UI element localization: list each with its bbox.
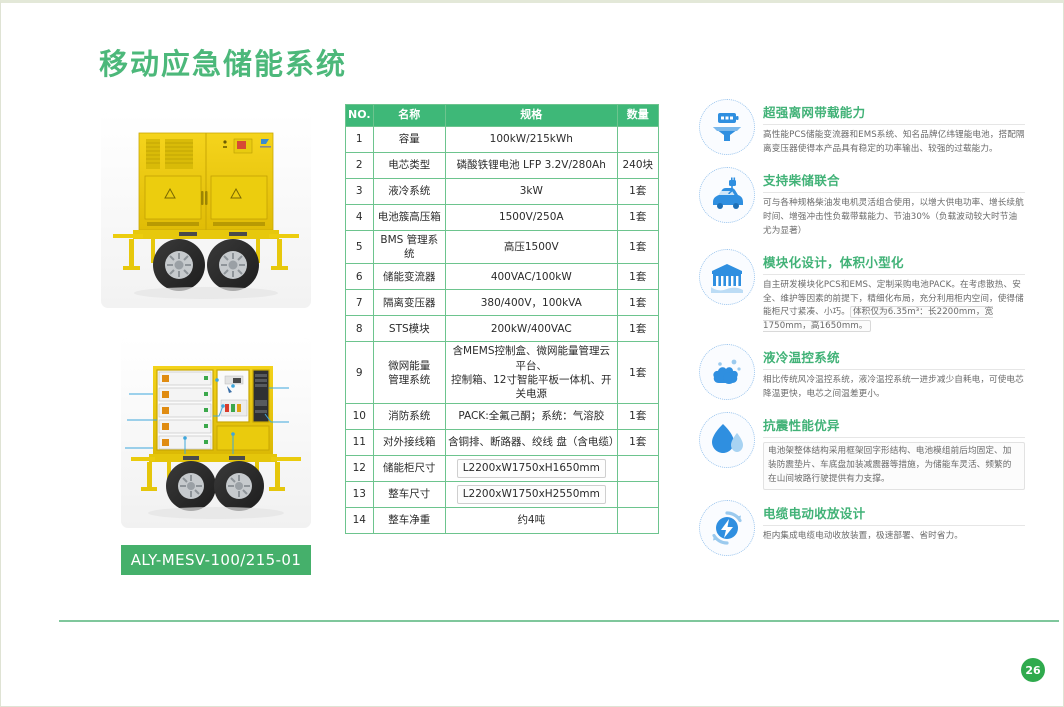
cell-no: 4 xyxy=(346,205,374,231)
cell-name: 对外接线箱 xyxy=(373,430,446,456)
product-photo-closed xyxy=(101,113,311,308)
feature-body: 模块化设计，体积小型化自主研发模块化PCS和EMS、定制采购电池PACK。在考虑… xyxy=(763,249,1025,335)
cell-name: 消防系统 xyxy=(373,404,446,430)
feature-title: 超强离网带载能力 xyxy=(763,102,1025,121)
table-row: 1容量100kW/215kWh xyxy=(346,127,659,153)
table-row: 10消防系统PACK:全氟己酮；系统：气溶胶1套 xyxy=(346,404,659,430)
trailer-closed-illustration xyxy=(101,113,311,308)
icon-glyph xyxy=(707,107,747,147)
table-row: 9微网能量管理系统含MEMS控制盒、微网能量管理云平台、控制箱、12寸智能平板一… xyxy=(346,342,659,404)
page-number-badge: 26 xyxy=(1021,658,1045,682)
feature-body: 液冷温控系统相比传统风冷温控系统，液冷温控系统一进步减少自耗电，可使电芯降温更快… xyxy=(763,344,1025,402)
table-row: 6储能变流器400VAC/100kW1套 xyxy=(346,264,659,290)
feature-title: 液冷温控系统 xyxy=(763,347,1025,366)
cell-qty: 1套 xyxy=(617,290,659,316)
cell-qty: 1套 xyxy=(617,264,659,290)
cell-qty: 1套 xyxy=(617,430,659,456)
feature-divider xyxy=(763,525,1025,526)
feature-item: 模块化设计，体积小型化自主研发模块化PCS和EMS、定制采购电池PACK。在考虑… xyxy=(699,249,1025,335)
cell-no: 11 xyxy=(346,430,374,456)
boxed-value: L2200xW1750xH2550mm xyxy=(457,485,606,503)
feature-description: 相比传统风冷温控系统，液冷温控系统一进步减少自耗电，可使电芯降温更快，电芯之间温… xyxy=(763,374,1025,402)
cell-spec: L2200xW1750xH1650mm xyxy=(446,456,617,482)
cell-no: 2 xyxy=(346,153,374,179)
cell-no: 10 xyxy=(346,404,374,430)
footer-divider xyxy=(59,620,1059,622)
cell-no: 5 xyxy=(346,231,374,264)
cell-no: 1 xyxy=(346,127,374,153)
table-row: 3液冷系统3kW1套 xyxy=(346,179,659,205)
feature-item: 抗震性能优异电池架整体结构采用框架回字形结构、电池模组前后均固定、加装防震垫片、… xyxy=(699,412,1025,490)
feature-description: 可与各种规格柴油发电机灵活组合使用，以增大供电功率、增长续航时间、增强冲击性负载… xyxy=(763,197,1025,239)
cell-name: 整车净重 xyxy=(373,508,446,534)
cell-name: 微网能量管理系统 xyxy=(373,342,446,404)
cell-name: 隔离变压器 xyxy=(373,290,446,316)
cell-name: 储能柜尺寸 xyxy=(373,456,446,482)
icon-glyph xyxy=(707,257,747,297)
cell-qty: 240块 xyxy=(617,153,659,179)
cell-spec: 400VAC/100kW xyxy=(446,264,617,290)
cell-name: 整车尺寸 xyxy=(373,482,446,508)
cell-name: 储能变流器 xyxy=(373,264,446,290)
cell-no: 12 xyxy=(346,456,374,482)
table-row: 2电芯类型磷酸铁锂电池 LFP 3.2V/280Ah240块 xyxy=(346,153,659,179)
cell-spec: 约4吨 xyxy=(446,508,617,534)
feature-item: 支持柴储联合可与各种规格柴油发电机灵活组合使用，以增大供电功率、增长续航时间、增… xyxy=(699,167,1025,239)
cell-qty: 1套 xyxy=(617,179,659,205)
cell-qty: 1套 xyxy=(617,316,659,342)
feature-item: 液冷温控系统相比传统风冷温控系统，液冷温控系统一进步减少自耗电，可使电芯降温更快… xyxy=(699,344,1025,402)
column-header-no: NO. xyxy=(346,105,374,127)
cell-no: 14 xyxy=(346,508,374,534)
feature-body: 电缆电动收放设计柜内集成电缆电动收放装置，极速部署、省时省力。 xyxy=(763,500,1025,544)
feature-divider xyxy=(763,369,1025,370)
model-number-badge: ALY-MESV-100/215-01 xyxy=(121,545,311,575)
icon-glyph xyxy=(707,508,747,548)
feature-divider xyxy=(763,192,1025,193)
cell-name: 容量 xyxy=(373,127,446,153)
cell-spec: L2200xW1750xH2550mm xyxy=(446,482,617,508)
feature-description-highlight: 体积仅为6.35m³：长2200mm，宽1750mm，高1650mm。 xyxy=(763,306,993,332)
feature-description: 自主研发模块化PCS和EMS、定制采购电池PACK。在考虑散热、安全、维护等因素… xyxy=(763,279,1025,335)
feature-divider xyxy=(763,124,1025,125)
table-row: 7隔离变压器380/400V，100kVA1套 xyxy=(346,290,659,316)
column-header-spec: 规格 xyxy=(446,105,617,127)
column-header-name: 名称 xyxy=(373,105,446,127)
table-row: 4电池簇高压箱1500V/250A1套 xyxy=(346,205,659,231)
trailer-open-illustration xyxy=(121,338,311,528)
cell-spec: 1500V/250A xyxy=(446,205,617,231)
table-row: 5BMS 管理系统高压1500V1套 xyxy=(346,231,659,264)
table-header-row: NO. 名称 规格 数量 xyxy=(346,105,659,127)
battery-funnel-icon xyxy=(699,99,755,155)
icon-glyph xyxy=(707,352,747,392)
feature-title: 电缆电动收放设计 xyxy=(763,503,1025,522)
feature-divider xyxy=(763,274,1025,275)
cell-spec: 100kW/215kWh xyxy=(446,127,617,153)
table-row: 12储能柜尺寸L2200xW1750xH1650mm xyxy=(346,456,659,482)
cell-spec: 380/400V，100kVA xyxy=(446,290,617,316)
cell-spec: 高压1500V xyxy=(446,231,617,264)
cell-qty xyxy=(617,482,659,508)
cell-no: 13 xyxy=(346,482,374,508)
cable-reel-bolt-icon xyxy=(699,500,755,556)
table-row: 8STS模块200kW/400VAC1套 xyxy=(346,316,659,342)
feature-title: 模块化设计，体积小型化 xyxy=(763,252,1025,271)
feature-title: 支持柴储联合 xyxy=(763,170,1025,189)
cell-spec: 含铜排、断路器、绞线 盘（含电缆） xyxy=(446,430,617,456)
feature-description: 柜内集成电缆电动收放装置，极速部署、省时省力。 xyxy=(763,530,1025,544)
feature-body: 抗震性能优异电池架整体结构采用框架回字形结构、电池模组前后均固定、加装防震垫片、… xyxy=(763,412,1025,490)
cell-qty xyxy=(617,456,659,482)
cell-name: STS模块 xyxy=(373,316,446,342)
cell-no: 6 xyxy=(346,264,374,290)
cell-name: BMS 管理系统 xyxy=(373,231,446,264)
module-rack-icon xyxy=(699,249,755,305)
cell-qty: 1套 xyxy=(617,342,659,404)
table-row: 14整车净重约4吨 xyxy=(346,508,659,534)
feature-body: 支持柴储联合可与各种规格柴油发电机灵活组合使用，以增大供电功率、增长续航时间、增… xyxy=(763,167,1025,239)
cell-name: 电池簇高压箱 xyxy=(373,205,446,231)
cell-spec: 磷酸铁锂电池 LFP 3.2V/280Ah xyxy=(446,153,617,179)
cell-spec: 含MEMS控制盒、微网能量管理云平台、控制箱、12寸智能平板一体机、开关电源 xyxy=(446,342,617,404)
feature-divider xyxy=(763,437,1025,438)
cell-spec: 200kW/400VAC xyxy=(446,316,617,342)
feature-item: 电缆电动收放设计柜内集成电缆电动收放装置，极速部署、省时省力。 xyxy=(699,500,1025,556)
ev-charging-car-icon xyxy=(699,167,755,223)
cell-spec: 3kW xyxy=(446,179,617,205)
specification-table: NO. 名称 规格 数量 1容量100kW/215kWh2电芯类型磷酸铁锂电池 … xyxy=(345,104,659,534)
boxed-value: L2200xW1750xH1650mm xyxy=(457,459,606,477)
icon-glyph xyxy=(707,175,747,215)
cell-no: 9 xyxy=(346,342,374,404)
cell-name: 电芯类型 xyxy=(373,153,446,179)
cell-qty: 1套 xyxy=(617,231,659,264)
cell-qty xyxy=(617,508,659,534)
page-title: 移动应急储能系统 xyxy=(99,41,347,83)
shock-resistant-droplet-icon xyxy=(699,412,755,468)
cell-no: 3 xyxy=(346,179,374,205)
cell-qty: 1套 xyxy=(617,205,659,231)
slide-canvas: 移动应急储能系统 xyxy=(0,0,1064,707)
column-header-qty: 数量 xyxy=(617,105,659,127)
cell-no: 7 xyxy=(346,290,374,316)
table-row: 11对外接线箱含铜排、断路器、绞线 盘（含电缆）1套 xyxy=(346,430,659,456)
liquid-cooling-cloud-icon xyxy=(699,344,755,400)
cell-name: 液冷系统 xyxy=(373,179,446,205)
feature-title: 抗震性能优异 xyxy=(763,415,1025,434)
feature-list: 超强离网带载能力高性能PCS储能变流器和EMS系统、知名品牌亿纬锂能电池，搭配隔… xyxy=(699,99,1025,566)
feature-description: 电池架整体结构采用框架回字形结构、电池模组前后均固定、加装防震垫片、车底盘加装减… xyxy=(763,442,1025,490)
table-row: 13整车尺寸L2200xW1750xH2550mm xyxy=(346,482,659,508)
feature-description: 高性能PCS储能变流器和EMS系统、知名品牌亿纬锂能电池，搭配隔离变压器使得本产… xyxy=(763,129,1025,157)
product-photo-open xyxy=(121,338,311,528)
cell-spec: PACK:全氟己酮；系统：气溶胶 xyxy=(446,404,617,430)
feature-body: 超强离网带载能力高性能PCS储能变流器和EMS系统、知名品牌亿纬锂能电池，搭配隔… xyxy=(763,99,1025,157)
cell-qty: 1套 xyxy=(617,404,659,430)
cell-no: 8 xyxy=(346,316,374,342)
table-body: 1容量100kW/215kWh2电芯类型磷酸铁锂电池 LFP 3.2V/280A… xyxy=(346,127,659,534)
feature-item: 超强离网带载能力高性能PCS储能变流器和EMS系统、知名品牌亿纬锂能电池，搭配隔… xyxy=(699,99,1025,157)
icon-glyph xyxy=(707,420,747,460)
cell-qty xyxy=(617,127,659,153)
